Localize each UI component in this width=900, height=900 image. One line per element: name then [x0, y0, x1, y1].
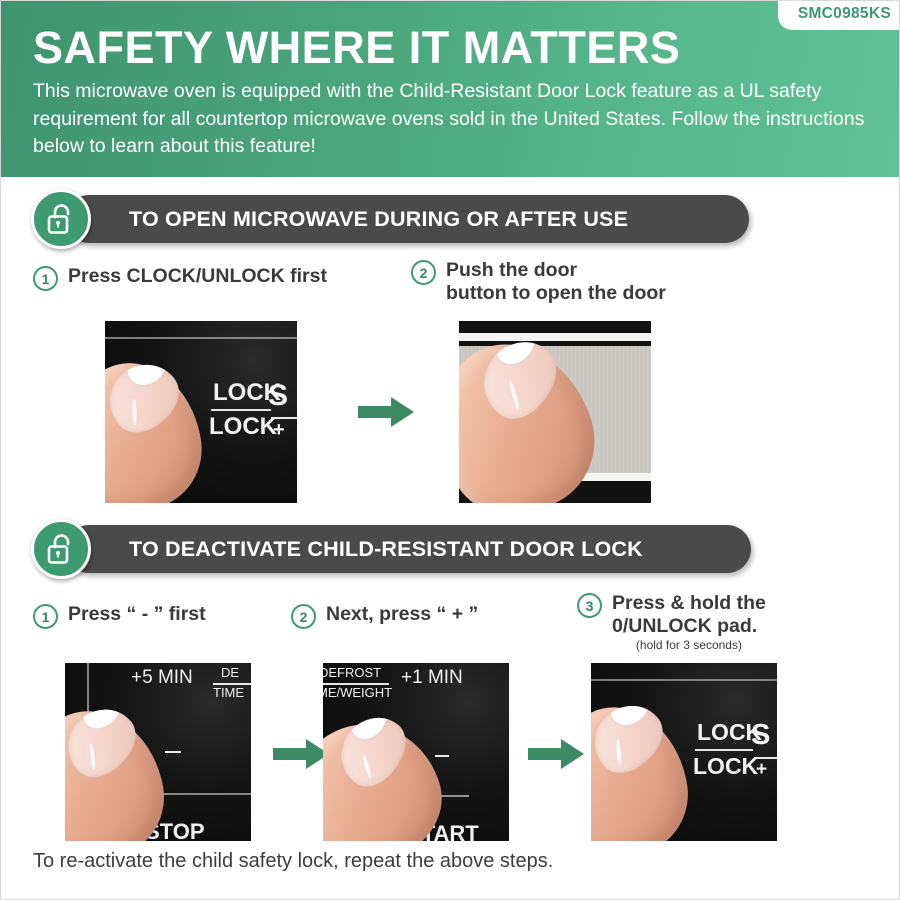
panel-text-plus1min: +1 MIN	[401, 667, 463, 689]
step-1-1: 1 Press CLOCK/UNLOCK first	[33, 265, 327, 291]
step-number: 1	[33, 266, 58, 291]
footer-note: To re-activate the child safety lock, re…	[33, 849, 553, 873]
section-2-steps: 1 Press “ - ” first 2 Next, press “ + ” …	[1, 591, 900, 643]
fingernail	[105, 350, 190, 444]
arrow-right-icon	[273, 737, 329, 776]
step-1-2: 2 Push the door button to open the door	[411, 259, 666, 304]
section-1-banner-label: TO OPEN MICROWAVE DURING OR AFTER USE	[129, 207, 628, 232]
section-open-microwave: TO OPEN MICROWAVE DURING OR AFTER USE 1 …	[1, 189, 899, 311]
fingernail	[65, 695, 147, 788]
step-label: Press CLOCK/UNLOCK first	[68, 265, 327, 288]
finger	[105, 351, 213, 503]
step-number: 2	[291, 604, 316, 629]
step-2-2: 2 Next, press “ + ”	[291, 603, 478, 629]
finger	[591, 694, 700, 841]
page-title: SAFETY WHERE IT MATTERS	[33, 25, 871, 70]
panel-text-s: S	[268, 379, 288, 413]
arrow-right-icon	[528, 737, 584, 776]
panel-text-timeweight: ME/WEIGHT	[323, 685, 392, 700]
section-2-banner: TO DEACTIVATE CHILD-RESISTANT DOOR LOCK	[65, 525, 751, 573]
panel-text-lock-lower: LOCK	[209, 413, 277, 441]
arrow-right-icon	[358, 395, 414, 434]
section-2-banner-row: TO DEACTIVATE CHILD-RESISTANT DOOR LOCK	[31, 519, 871, 581]
panel-text-time: TIME	[213, 685, 244, 700]
section-1-banner-row: TO OPEN MICROWAVE DURING OR AFTER USE	[31, 189, 869, 251]
section-2-banner-label: TO DEACTIVATE CHILD-RESISTANT DOOR LOCK	[129, 537, 643, 562]
step-label: Push the door button to open the door	[446, 259, 666, 304]
step-label: Press & hold the 0/UNLOCK pad.	[612, 592, 766, 637]
sku-badge: SMC0985KS	[778, 1, 900, 30]
photo-push-door-button	[459, 321, 651, 503]
photo-press-clock-unlock: LOCK LOCK S + S	[105, 321, 297, 503]
fingernail	[591, 691, 674, 784]
open-padlock-icon	[31, 189, 91, 249]
panel-text-defrost: DEFROST	[323, 665, 381, 680]
panel-text-s: S	[751, 719, 770, 752]
step-label: Press “ - ” first	[68, 603, 206, 626]
step-number: 3	[577, 593, 602, 618]
photo-hold-unlock: LOCK LOCK S +	[591, 663, 777, 841]
photo-press-plus: DEFROST ME/WEIGHT +1 MIN TIMER START	[323, 663, 509, 841]
panel-text-defrost: DE	[221, 665, 239, 680]
section-deactivate-lock: TO DEACTIVATE CHILD-RESISTANT DOOR LOCK …	[1, 519, 900, 649]
fingernail	[328, 704, 417, 796]
safety-instruction-page: SMC0985KS SAFETY WHERE IT MATTERS This m…	[0, 0, 900, 900]
step-2-1: 1 Press “ - ” first	[33, 603, 206, 629]
step-label: Next, press “ + ”	[326, 603, 478, 626]
step-2-3: 3 Press & hold the 0/UNLOCK pad. (hold f…	[577, 592, 766, 652]
step-number: 1	[33, 604, 58, 629]
header-subtitle: This microwave oven is equipped with the…	[33, 78, 871, 161]
section-1-steps: 1 Press CLOCK/UNLOCK first 2 Push the do…	[1, 261, 899, 311]
photo-press-minus: +5 MIN DE TIME STOP	[65, 663, 251, 841]
panel-text-lock-lower: LOCK	[693, 753, 758, 780]
open-padlock-icon	[31, 519, 91, 579]
page-header: SMC0985KS SAFETY WHERE IT MATTERS This m…	[1, 1, 900, 177]
step-number: 2	[411, 260, 436, 285]
step-subnote: (hold for 3 seconds)	[612, 638, 766, 652]
panel-text-plus5min: +5 MIN	[131, 667, 193, 689]
section-1-banner: TO OPEN MICROWAVE DURING OR AFTER USE	[65, 195, 749, 243]
